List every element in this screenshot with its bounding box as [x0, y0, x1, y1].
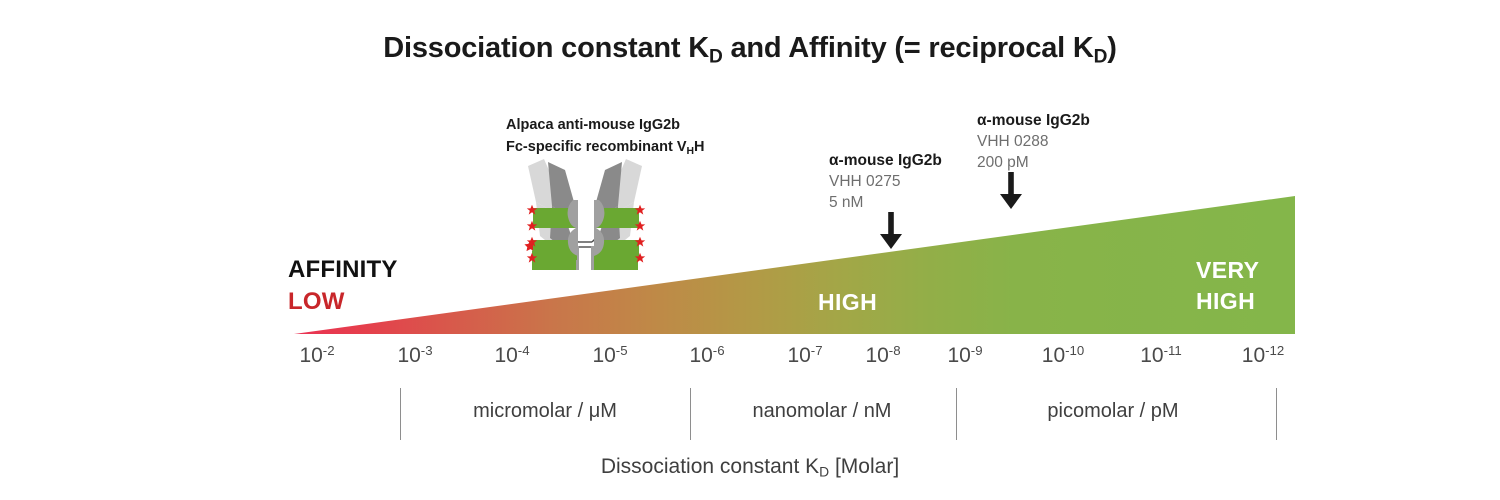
range-separator [956, 388, 957, 440]
antibody-vhh-overlay [508, 156, 664, 274]
axis-tick: 10-6 [689, 343, 724, 368]
title-middle: and Affinity (= reciprocal K [723, 32, 1094, 64]
antibody-annotation-line2-sub: H [687, 146, 695, 157]
affinity-very-high-line2: HIGH [1196, 286, 1259, 317]
title-prefix: Dissociation constant K [383, 32, 709, 64]
axis-tick: 10-3 [397, 343, 432, 368]
antibody-annotation-line2-post: H [694, 139, 704, 155]
range-label-nanomolar: nanomolar / nM [753, 400, 892, 423]
range-label-picomolar: picomolar / pM [1047, 400, 1178, 423]
marker-0275-kd: 5 nM [829, 192, 942, 213]
antibody-annotation: Alpaca anti-mouse IgG2b Fc-specific reco… [506, 114, 705, 163]
axis-tick: 10-10 [1042, 343, 1084, 368]
title-subscript-1: D [709, 46, 723, 67]
affinity-label: AFFINITY [288, 256, 398, 284]
axis-tick: 10-4 [494, 343, 529, 368]
antibody-annotation-line2-pre: Fc-specific recombinant V [506, 139, 687, 155]
range-separator [400, 388, 401, 440]
affinity-very-high-label: VERY HIGH [1196, 255, 1259, 317]
affinity-low-label: LOW [288, 288, 345, 316]
axis-tick: 10-11 [1140, 343, 1181, 368]
range-label-micromolar: micromolar / μM [473, 400, 617, 423]
figure-root: Dissociation constant KD and Affinity (=… [0, 0, 1500, 500]
arrow-down-icon-0288 [998, 172, 1024, 210]
axis-tick: 10-7 [787, 343, 822, 368]
title-subscript-2: D [1094, 46, 1108, 67]
axis-tick: 10-8 [865, 343, 900, 368]
marker-annotation-vhh-0288: α-mouse IgG2b VHH 0288 200 pM [977, 110, 1090, 173]
arrow-down-icon-0275 [878, 212, 904, 250]
axis-caption-sub: D [819, 464, 829, 480]
marker-0288-kd: 200 pM [977, 152, 1090, 173]
affinity-very-high-line1: VERY [1196, 255, 1259, 286]
marker-0275-target: α-mouse IgG2b [829, 150, 942, 171]
marker-annotation-vhh-0275: α-mouse IgG2b VHH 0275 5 nM [829, 150, 942, 213]
marker-0275-id: VHH 0275 [829, 171, 942, 192]
affinity-gradient-wedge [290, 190, 1295, 338]
affinity-high-label: HIGH [818, 289, 877, 316]
marker-0288-target: α-mouse IgG2b [977, 110, 1090, 131]
axis-tick: 10-12 [1242, 343, 1284, 368]
axis-tick: 10-5 [592, 343, 627, 368]
axis-caption-pre: Dissociation constant K [601, 455, 819, 478]
axis-tick: 10-2 [299, 343, 334, 368]
axis-caption: Dissociation constant KD [Molar] [0, 455, 1500, 480]
axis-caption-post: [Molar] [829, 455, 899, 478]
antibody-annotation-line1: Alpaca anti-mouse IgG2b [506, 114, 705, 136]
page-title: Dissociation constant KD and Affinity (=… [0, 32, 1500, 68]
axis-tick-labels: 10-2 10-3 10-4 10-5 10-6 10-7 10-8 10-9 … [0, 343, 1500, 377]
title-suffix: ) [1107, 32, 1116, 64]
concentration-range-band: micromolar / μM nanomolar / nM picomolar… [0, 388, 1500, 442]
marker-0288-id: VHH 0288 [977, 131, 1090, 152]
range-separator [1276, 388, 1277, 440]
axis-tick: 10-9 [947, 343, 982, 368]
antibody-annotation-line2: Fc-specific recombinant VHH [506, 136, 705, 163]
range-separator [690, 388, 691, 440]
